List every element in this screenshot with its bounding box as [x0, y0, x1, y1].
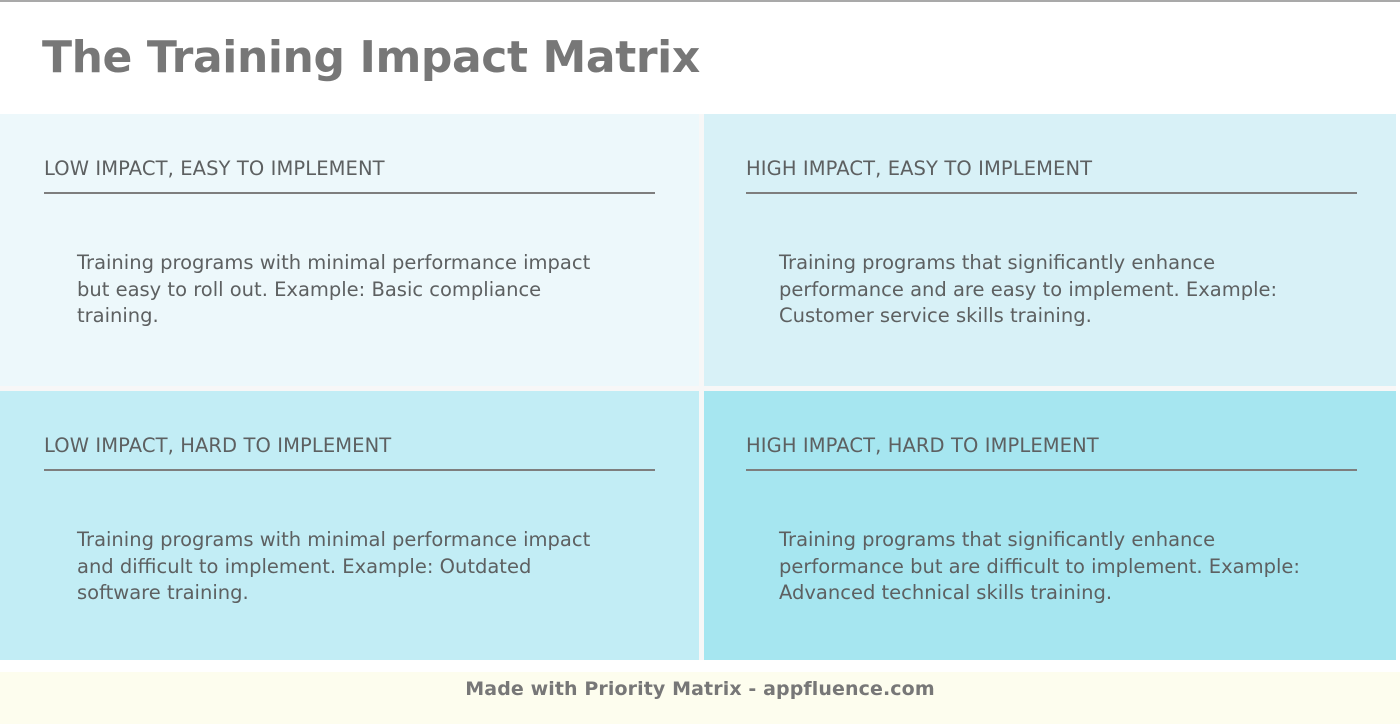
quadrant-low-impact-hard[interactable]: LOW IMPACT, HARD TO IMPLEMENT Training p…: [0, 386, 699, 660]
quadrant-high-impact-easy-body: Training programs that significantly enh…: [746, 250, 1324, 330]
page-title: The Training Impact Matrix: [0, 36, 700, 80]
quadrant-low-impact-easy-inner: LOW IMPACT, EASY TO IMPLEMENT Training p…: [0, 114, 699, 386]
quadrant-high-impact-hard-header: HIGH IMPACT, HARD TO IMPLEMENT: [746, 435, 1357, 471]
footer-spacer: [0, 660, 1400, 672]
training-impact-matrix-page: The Training Impact Matrix LOW IMPACT, E…: [0, 0, 1400, 724]
quadrant-low-impact-easy-header: LOW IMPACT, EASY TO IMPLEMENT: [44, 158, 655, 194]
quadrant-low-impact-hard-body: Training programs with minimal performan…: [44, 527, 607, 607]
quadrant-high-impact-easy-header: HIGH IMPACT, EASY TO IMPLEMENT: [746, 158, 1357, 194]
quadrant-high-impact-easy-inner: HIGH IMPACT, EASY TO IMPLEMENT Training …: [704, 114, 1396, 386]
quadrant-low-impact-easy-body: Training programs with minimal performan…: [44, 250, 607, 330]
quadrant-high-impact-hard[interactable]: HIGH IMPACT, HARD TO IMPLEMENT Training …: [699, 386, 1396, 660]
page-footer: Made with Priority Matrix - appfluence.c…: [0, 672, 1400, 724]
quadrant-low-impact-easy[interactable]: LOW IMPACT, EASY TO IMPLEMENT Training p…: [0, 114, 699, 386]
page-header: The Training Impact Matrix: [0, 2, 1400, 114]
matrix-grid: LOW IMPACT, EASY TO IMPLEMENT Training p…: [0, 114, 1396, 660]
quadrant-high-impact-hard-inner: HIGH IMPACT, HARD TO IMPLEMENT Training …: [704, 391, 1396, 660]
quadrant-low-impact-hard-inner: LOW IMPACT, HARD TO IMPLEMENT Training p…: [0, 391, 699, 660]
footer-attribution[interactable]: Made with Priority Matrix - appfluence.c…: [465, 678, 934, 700]
quadrant-high-impact-easy[interactable]: HIGH IMPACT, EASY TO IMPLEMENT Training …: [699, 114, 1396, 386]
quadrant-low-impact-hard-header: LOW IMPACT, HARD TO IMPLEMENT: [44, 435, 655, 471]
quadrant-high-impact-hard-body: Training programs that significantly enh…: [746, 527, 1324, 607]
